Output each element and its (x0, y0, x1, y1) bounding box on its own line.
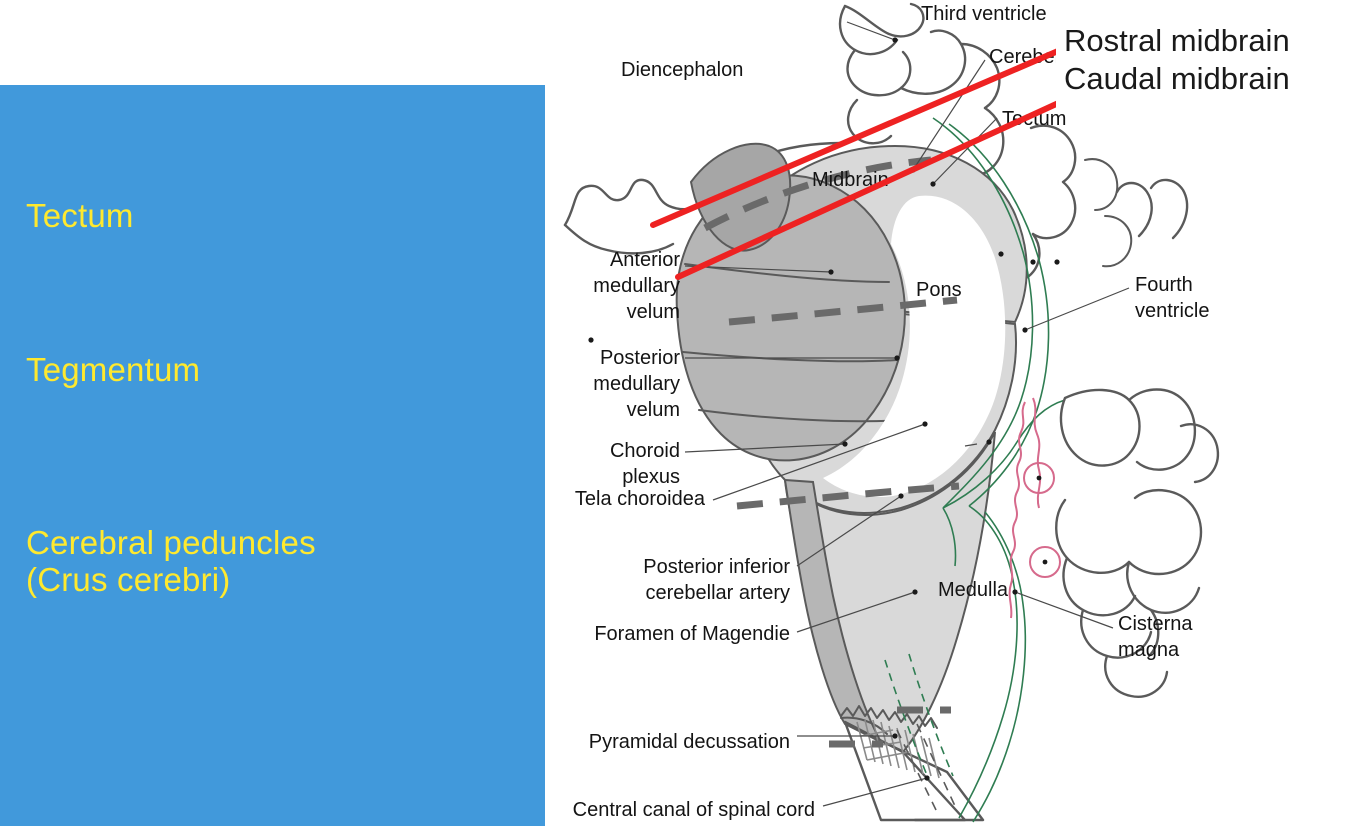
label-foramen-of-magendie: Foramen of Magendie (594, 623, 790, 645)
label-pica-line1: Posterior inferior (643, 556, 790, 578)
bullet-tegmentum: Tegmentum (26, 352, 200, 389)
label-anterior-medullary-velum-line1: Anterior (610, 249, 680, 271)
label-fourth-ventricle-line1: Fourth (1135, 274, 1193, 296)
label-choroid-plexus-line1: Choroid (610, 440, 680, 462)
label-fourth-ventricle-line2: ventricle (1135, 300, 1209, 322)
bullet-cerebral-peduncles: Cerebral peduncles (Crus cerebri) (26, 525, 316, 599)
callout-rostral-midbrain: Rostral midbrain (1064, 24, 1290, 57)
label-diencephalon: Diencephalon (621, 59, 743, 81)
brainstem-diagram-svg: .ol { fill:none; stroke:#5a5a5a; stroke-… (545, 0, 1346, 826)
bullet-tectum: Tectum (26, 198, 134, 235)
brainstem-diagram: .ol { fill:none; stroke:#5a5a5a; stroke-… (545, 0, 1346, 826)
label-cisterna-magna-line1: Cisterna (1118, 613, 1193, 635)
slide-canvas: Tectum Tegmentum Cerebral peduncles (Cru… (0, 0, 1346, 826)
label-cisterna-magna-line2: magna (1118, 639, 1180, 661)
label-third-ventricle: Third ventricle (921, 3, 1047, 25)
label-choroid-plexus-line2: plexus (622, 466, 680, 488)
label-posterior-medullary-velum-line1: Posterior (600, 347, 680, 369)
label-anterior-medullary-velum-line3: velum (627, 301, 680, 323)
label-posterior-medullary-velum-line2: medullary (593, 373, 680, 395)
label-central-canal: Central canal of spinal cord (573, 799, 815, 821)
label-tela-choroidea: Tela choroidea (575, 488, 706, 510)
label-pica-line2: cerebellar artery (645, 582, 790, 604)
label-posterior-medullary-velum-line3: velum (627, 399, 680, 421)
callout-caudal-midbrain: Caudal midbrain (1064, 62, 1290, 95)
label-pons: Pons (916, 279, 962, 301)
label-pyramidal-decussation: Pyramidal decussation (589, 731, 790, 753)
label-anterior-medullary-velum-line2: medullary (593, 275, 680, 297)
label-medulla: Medulla (938, 579, 1009, 601)
